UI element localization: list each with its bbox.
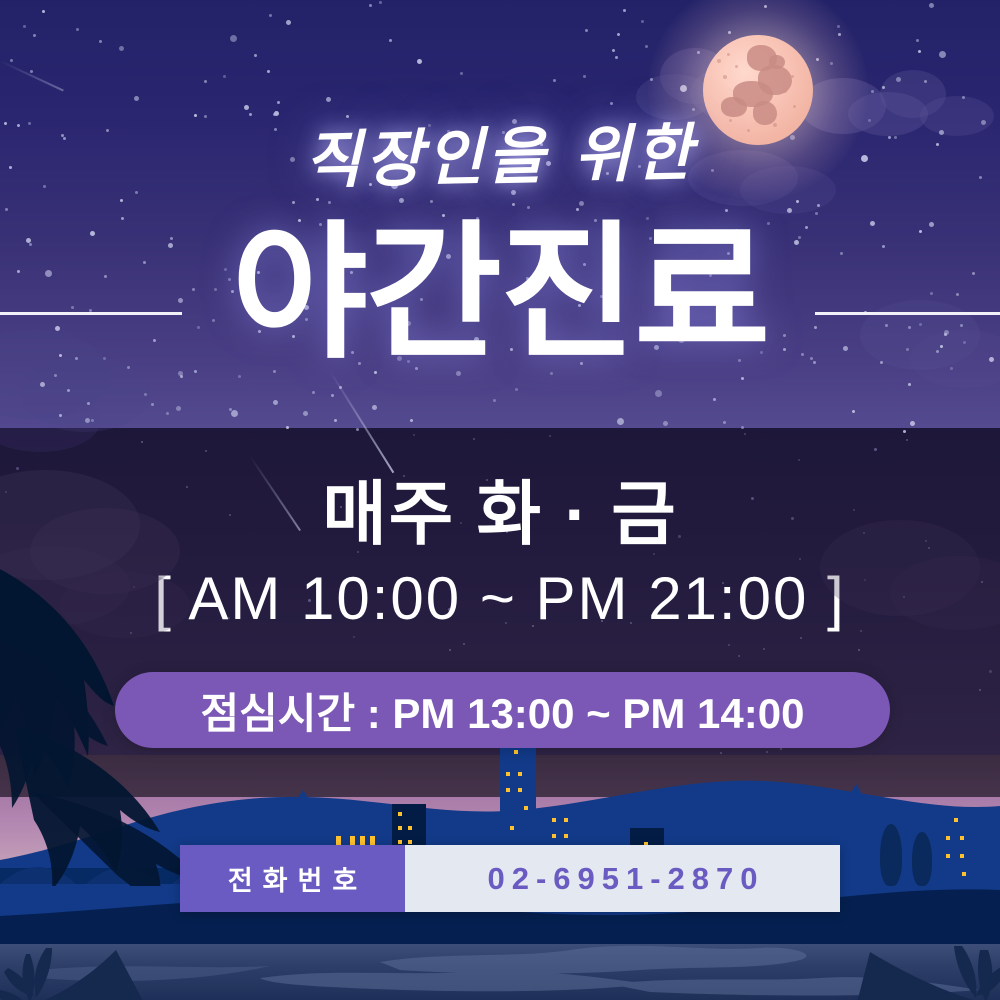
star-icon	[553, 79, 556, 82]
palm-leaf-icon-water-left	[0, 944, 180, 1000]
star-icon	[5, 208, 8, 211]
star-icon	[269, 14, 272, 17]
star-icon	[796, 200, 799, 203]
building-icon	[940, 808, 974, 884]
star-icon	[379, 1, 382, 4]
star-icon	[119, 46, 124, 51]
star-icon	[430, 200, 433, 203]
star-icon	[372, 405, 377, 410]
star-icon	[903, 430, 906, 433]
star-icon	[91, 419, 94, 422]
spire-cap	[289, 790, 317, 812]
phone-number[interactable]: 02-6951-2870	[405, 845, 840, 912]
star-icon	[230, 35, 237, 42]
spire-cap	[843, 784, 869, 806]
star-icon	[85, 418, 90, 423]
star-icon	[512, 203, 515, 206]
star-icon	[59, 414, 62, 417]
palm-leaf-icon-water-right	[830, 944, 1000, 1000]
star-icon	[303, 411, 308, 416]
star-icon	[87, 402, 90, 405]
star-icon	[924, 80, 927, 83]
star-icon	[527, 206, 530, 209]
star-icon	[30, 70, 33, 73]
star-icon	[244, 105, 249, 110]
star-icon	[99, 40, 102, 43]
star-icon	[176, 406, 181, 411]
shoreline	[0, 930, 1000, 944]
star-icon	[741, 377, 744, 380]
page-title: 야간진료	[0, 214, 1000, 374]
lunch-break-text: 점심시간 : PM 13:00 ~ PM 14:00	[201, 680, 805, 741]
star-icon	[579, 201, 584, 206]
star-icon	[908, 383, 911, 386]
star-icon	[979, 689, 981, 691]
star-icon	[723, 421, 726, 424]
star-icon	[515, 388, 518, 391]
tree-icon	[912, 832, 932, 886]
star-icon	[54, 374, 57, 377]
star-icon	[473, 438, 475, 440]
lunch-break-banner: 점심시간 : PM 13:00 ~ PM 14:00	[115, 672, 890, 748]
star-icon	[141, 441, 143, 443]
star-icon	[800, 637, 802, 639]
star-icon	[292, 201, 295, 204]
star-icon	[623, 9, 626, 12]
tree-icon	[880, 824, 902, 886]
star-icon	[989, 670, 992, 673]
phone-bar[interactable]: 전화번호 02-6951-2870	[180, 845, 840, 912]
star-icon	[585, 29, 588, 32]
star-icon	[326, 97, 331, 102]
star-icon	[460, 72, 463, 75]
star-icon	[744, 433, 746, 435]
phone-label: 전화번호	[180, 845, 405, 912]
star-icon	[929, 3, 934, 8]
star-icon	[267, 70, 270, 73]
star-icon	[331, 394, 334, 397]
star-icon	[254, 54, 257, 57]
star-icon	[939, 51, 946, 58]
star-icon	[641, 20, 644, 23]
star-icon	[40, 382, 45, 387]
star-icon	[413, 434, 415, 436]
star-icon	[663, 421, 668, 426]
star-icon	[76, 28, 79, 31]
star-icon	[166, 412, 169, 415]
building-icon	[850, 802, 863, 870]
star-icon	[10, 59, 13, 62]
night-clinic-poster: 직장인을 위한 야간진료 매주 화 · 금 [ AM 10:00 ~ PM 21…	[0, 0, 1000, 1000]
star-icon	[151, 403, 154, 406]
star-icon	[399, 198, 404, 203]
star-icon	[356, 428, 359, 431]
star-icon	[918, 50, 921, 53]
star-icon	[33, 34, 36, 37]
star-icon	[713, 398, 716, 401]
star-icon	[334, 419, 337, 422]
star-icon	[738, 655, 740, 657]
star-icon	[645, 45, 648, 48]
